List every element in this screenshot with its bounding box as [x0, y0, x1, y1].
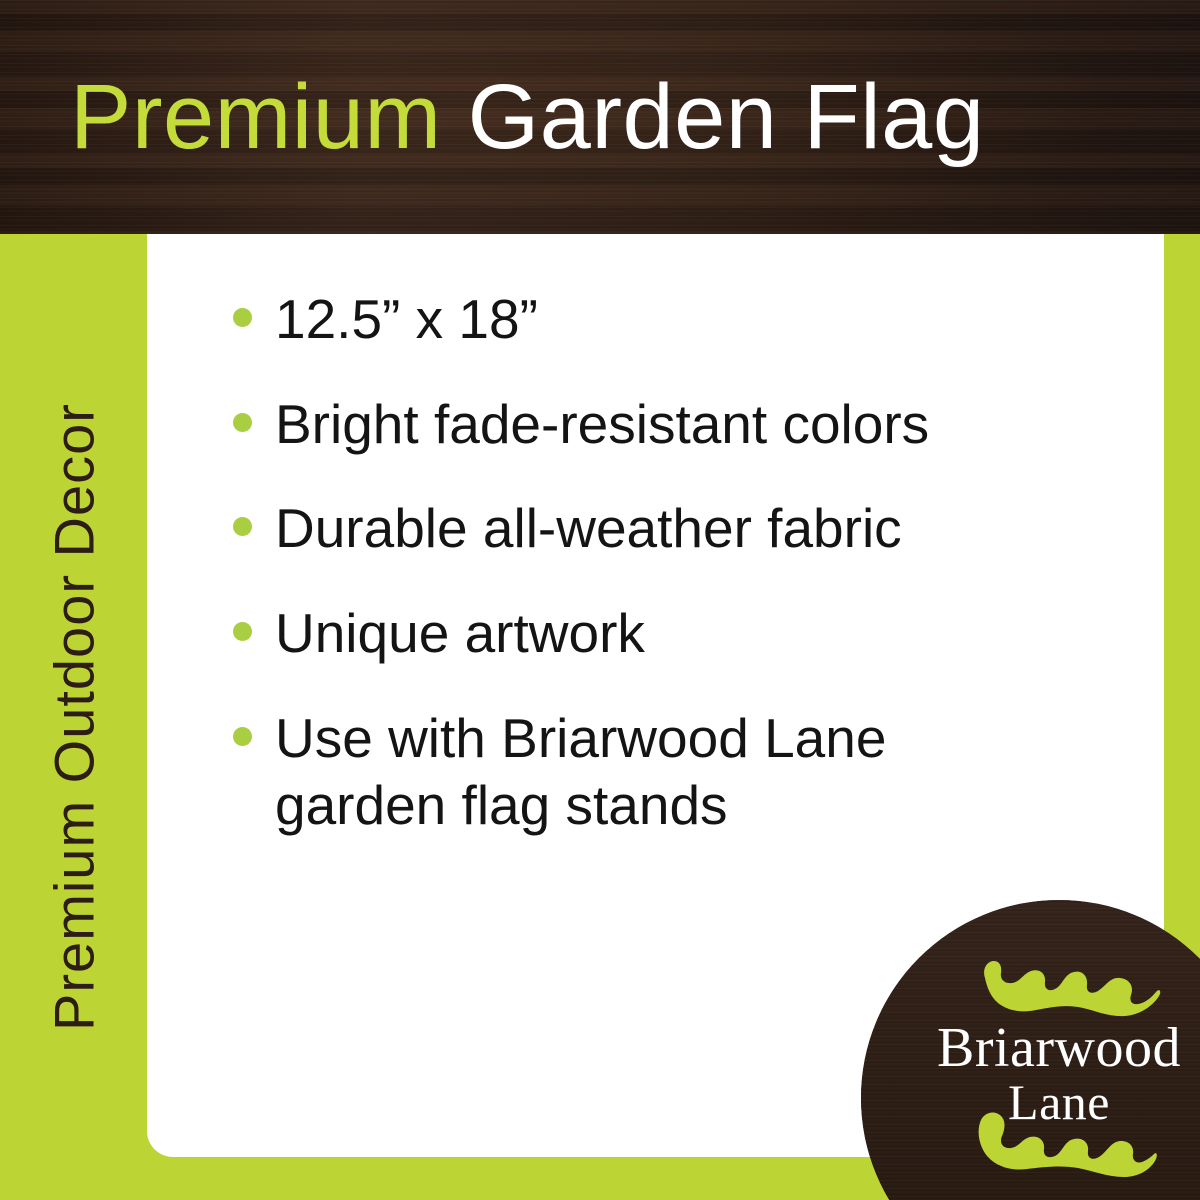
bullet-icon [233, 413, 252, 432]
header-banner: Premium Garden Flag [0, 0, 1200, 234]
brand-name-line1: Briarwood [861, 1020, 1200, 1076]
bullet-icon [233, 517, 252, 536]
page-title-rest: Garden Flag [442, 66, 985, 168]
bullet-icon [233, 308, 252, 327]
list-item: Bright fade-resistant colors [227, 391, 967, 459]
oak-leaf-icon [979, 958, 1161, 1020]
brand-logo-content: Briarwood Lane [861, 900, 1200, 1200]
list-item-label: Durable all-weather fabric [275, 497, 902, 559]
list-item: Unique artwork [227, 600, 967, 668]
list-item: Durable all-weather fabric [227, 495, 967, 563]
bullet-icon [233, 622, 252, 641]
brand-name-line2: Lane [861, 1077, 1200, 1127]
sidebar-vertical-banner: Premium Outdoor Decor [0, 234, 147, 1200]
list-item-label: Use with Briarwood Lane garden flag stan… [275, 707, 886, 837]
sidebar-label: Premium Outdoor Decor [41, 403, 106, 1031]
list-item: Use with Briarwood Lane garden flag stan… [227, 705, 967, 840]
feature-list: 12.5” x 18” Bright fade-resistant colors… [227, 286, 967, 840]
brand-logo-badge: Briarwood Lane [861, 900, 1200, 1200]
list-item: 12.5” x 18” [227, 286, 967, 354]
list-item-label: Unique artwork [275, 602, 645, 664]
list-item-label: Bright fade-resistant colors [275, 393, 929, 455]
page-title: Premium Garden Flag [70, 71, 985, 163]
page-title-highlight: Premium [70, 66, 442, 168]
bullet-icon [233, 727, 252, 746]
list-item-label: 12.5” x 18” [275, 288, 538, 350]
product-info-card: Premium Garden Flag Premium Outdoor Deco… [0, 0, 1200, 1200]
